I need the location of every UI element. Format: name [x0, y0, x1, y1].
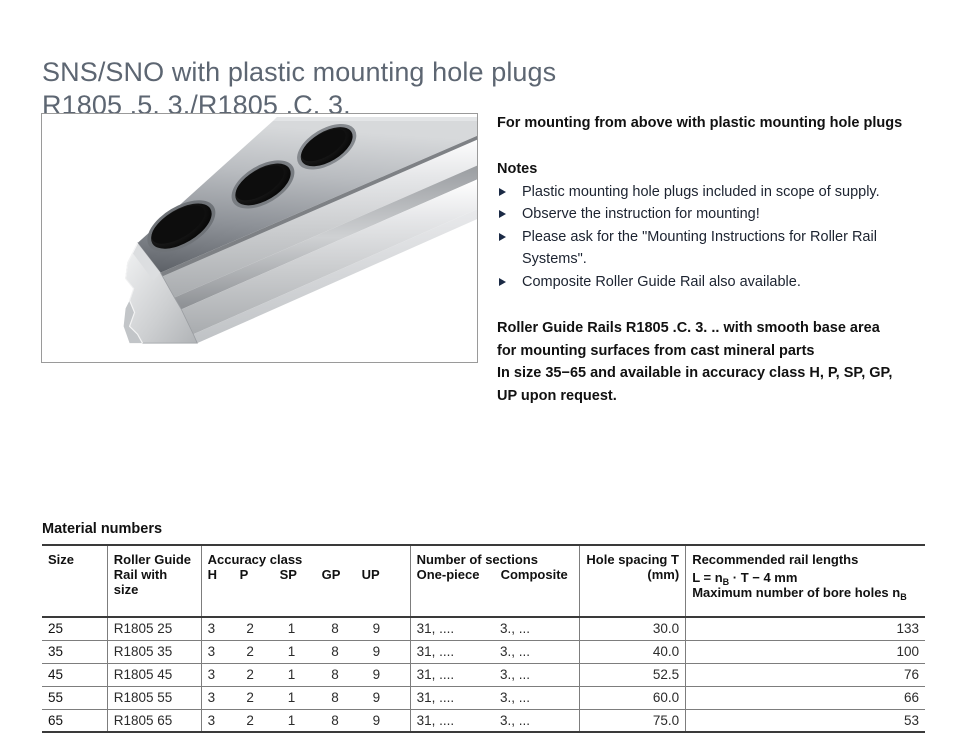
cell-size: 65	[42, 709, 107, 732]
header-accuracy-gp: GP	[322, 567, 362, 582]
cell-composite: 3., ...	[494, 686, 580, 709]
note-item: Please ask for the "Mounting Instruction…	[497, 226, 937, 271]
header-accuracy-class-label: Accuracy class	[208, 552, 404, 567]
note-item: Observe the instruction for mounting!	[497, 203, 937, 226]
cell-accuracy-h: 3	[201, 663, 240, 686]
description-column: For mounting from above with plastic mou…	[497, 112, 937, 407]
cell-size: 25	[42, 617, 107, 640]
header-size: Size	[42, 545, 107, 617]
composite-rail-note: Roller Guide Rails R1805 .C. 3. .. with …	[497, 317, 937, 407]
cell-accuracy-sp: 1	[282, 617, 325, 640]
cell-rail: R1805 55	[107, 686, 201, 709]
cell-accuracy-gp: 8	[325, 709, 366, 732]
header-composite: Composite	[501, 567, 568, 582]
cell-accuracy-sp: 1	[282, 709, 325, 732]
lead-heading: For mounting from above with plastic mou…	[497, 112, 937, 135]
table-caption: Material numbers	[42, 521, 162, 537]
table-row: 45 R1805 45 3 2 1 8 9 31, .... 3., ... 5…	[42, 663, 925, 686]
composite-rail-note-line-4: UP upon request.	[497, 385, 937, 408]
cell-accuracy-up: 9	[367, 686, 410, 709]
triangle-right-icon	[499, 210, 506, 218]
product-image	[41, 113, 478, 363]
header-accuracy-p: P	[240, 567, 280, 582]
header-hole-spacing: Hole spacing T (mm)	[580, 545, 686, 617]
cell-accuracy-sp: 1	[282, 663, 325, 686]
table-row: 55 R1805 55 3 2 1 8 9 31, .... 3., ... 6…	[42, 686, 925, 709]
material-numbers-table: Size Roller Guide Rail with size Accurac…	[42, 544, 925, 733]
page-title-line-1: SNS/SNO with plastic mounting hole plugs	[42, 57, 556, 87]
table-header-row: Size Roller Guide Rail with size Accurac…	[42, 545, 925, 617]
cell-accuracy-h: 3	[201, 686, 240, 709]
composite-rail-note-line-3: In size 35−65 and available in accuracy …	[497, 362, 937, 385]
note-text: Composite Roller Guide Rail also availab…	[522, 274, 801, 290]
cell-hole-spacing: 75.0	[580, 709, 686, 732]
cell-accuracy-up: 9	[367, 640, 410, 663]
header-roller-guide-rail: Roller Guide Rail with size	[107, 545, 201, 617]
cell-composite: 3., ...	[494, 640, 580, 663]
header-roller-guide-rail-label: Roller Guide Rail with size	[114, 552, 195, 597]
cell-hole-spacing: 52.5	[580, 663, 686, 686]
note-text: Observe the instruction for mounting!	[522, 206, 760, 222]
cell-hole-spacing: 40.0	[580, 640, 686, 663]
table-row: 65 R1805 65 3 2 1 8 9 31, .... 3., ... 7…	[42, 709, 925, 732]
header-hole-spacing-unit: (mm)	[586, 567, 679, 582]
cell-hole-spacing: 30.0	[580, 617, 686, 640]
cell-accuracy-sp: 1	[282, 686, 325, 709]
triangle-right-icon	[499, 233, 506, 241]
cell-rail: R1805 45	[107, 663, 201, 686]
cell-composite: 3., ...	[494, 617, 580, 640]
roller-guide-rail-illustration	[42, 114, 477, 362]
composite-rail-note-line-2: for mounting surfaces from cast mineral …	[497, 340, 937, 363]
header-recommended-rail-lengths: Recommended rail lengths L = nB · T − 4 …	[686, 545, 925, 617]
cell-composite: 3., ...	[494, 709, 580, 732]
cell-accuracy-h: 3	[201, 640, 240, 663]
header-number-of-sections-label: Number of sections	[417, 552, 574, 567]
composite-rail-note-line-1: Roller Guide Rails R1805 .C. 3. .. with …	[497, 317, 937, 340]
header-hole-spacing-label: Hole spacing T	[586, 552, 679, 567]
cell-accuracy-gp: 8	[325, 686, 366, 709]
cell-accuracy-p: 2	[240, 663, 281, 686]
note-text: Plastic mounting hole plugs included in …	[522, 184, 880, 200]
cell-accuracy-up: 9	[367, 663, 410, 686]
cell-accuracy-gp: 8	[325, 617, 366, 640]
cell-size: 35	[42, 640, 107, 663]
table-row: 25 R1805 25 3 2 1 8 9 31, .... 3., ... 3…	[42, 617, 925, 640]
header-accuracy-h: H	[208, 567, 240, 582]
table-row: 35 R1805 35 3 2 1 8 9 31, .... 3., ... 4…	[42, 640, 925, 663]
cell-accuracy-up: 9	[367, 709, 410, 732]
cell-max-bore-holes: 133	[686, 617, 925, 640]
cell-max-bore-holes: 53	[686, 709, 925, 732]
cell-max-bore-holes: 100	[686, 640, 925, 663]
cell-one-piece: 31, ....	[410, 686, 494, 709]
cell-max-bore-holes: 76	[686, 663, 925, 686]
header-number-of-sections: Number of sections One-piece Composite	[410, 545, 580, 617]
cell-accuracy-sp: 1	[282, 640, 325, 663]
cell-accuracy-up: 9	[367, 617, 410, 640]
cell-one-piece: 31, ....	[410, 617, 494, 640]
header-size-label: Size	[48, 552, 101, 567]
cell-max-bore-holes: 66	[686, 686, 925, 709]
cell-rail: R1805 35	[107, 640, 201, 663]
header-one-piece: One-piece	[417, 567, 501, 582]
header-recommended-lengths-formula: L = nB · T − 4 mm	[692, 570, 919, 585]
notes-list: Plastic mounting hole plugs included in …	[497, 181, 937, 294]
cell-accuracy-p: 2	[240, 686, 281, 709]
cell-hole-spacing: 60.0	[580, 686, 686, 709]
cell-accuracy-h: 3	[201, 617, 240, 640]
cell-accuracy-p: 2	[240, 709, 281, 732]
header-accuracy-class: Accuracy class H P SP GP UP	[201, 545, 410, 617]
header-accuracy-up: UP	[362, 567, 404, 582]
triangle-right-icon	[499, 188, 506, 196]
cell-accuracy-gp: 8	[325, 663, 366, 686]
header-recommended-lengths-line-1: Recommended rail lengths	[692, 552, 919, 567]
notes-heading: Notes	[497, 161, 937, 177]
cell-size: 45	[42, 663, 107, 686]
cell-size: 55	[42, 686, 107, 709]
cell-one-piece: 31, ....	[410, 709, 494, 732]
note-item: Composite Roller Guide Rail also availab…	[497, 271, 937, 294]
cell-accuracy-h: 3	[201, 709, 240, 732]
cell-accuracy-gp: 8	[325, 640, 366, 663]
cell-one-piece: 31, ....	[410, 663, 494, 686]
table-body: 25 R1805 25 3 2 1 8 9 31, .... 3., ... 3…	[42, 617, 925, 732]
triangle-right-icon	[499, 278, 506, 286]
header-accuracy-sp: SP	[280, 567, 322, 582]
cell-composite: 3., ...	[494, 663, 580, 686]
header-max-bore-holes: Maximum number of bore holes nB	[692, 585, 919, 600]
note-text: Please ask for the "Mounting Instruction…	[522, 229, 877, 268]
cell-accuracy-p: 2	[240, 640, 281, 663]
cell-one-piece: 31, ....	[410, 640, 494, 663]
cell-accuracy-p: 2	[240, 617, 281, 640]
cell-rail: R1805 65	[107, 709, 201, 732]
note-item: Plastic mounting hole plugs included in …	[497, 181, 937, 204]
cell-rail: R1805 25	[107, 617, 201, 640]
